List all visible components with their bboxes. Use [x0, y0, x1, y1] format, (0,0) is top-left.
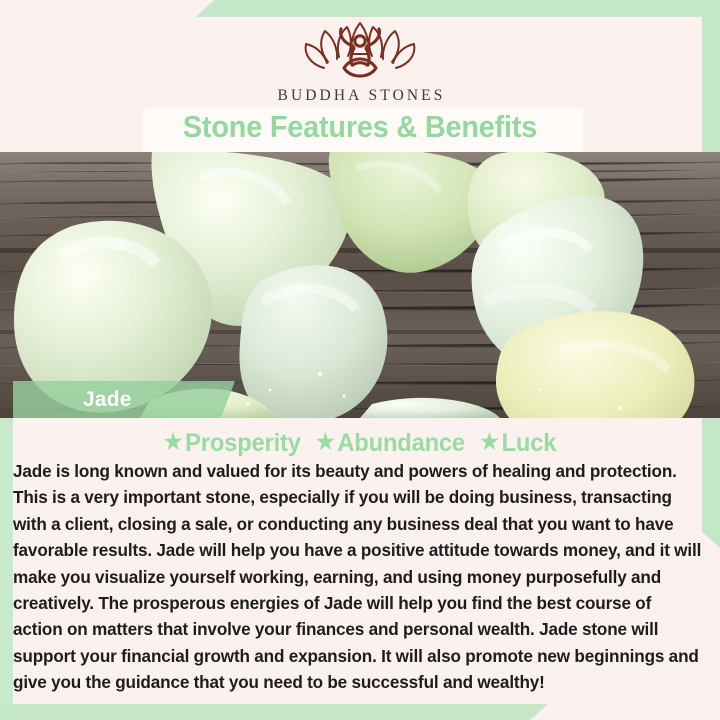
star-icon: ★	[480, 429, 499, 454]
star-icon: ★	[316, 429, 335, 454]
keyword-label: Prosperity	[185, 429, 301, 457]
stone-features-infographic: BUDDHA STONES Stone Features & Benefits	[0, 0, 720, 720]
bottom-accent-band	[0, 704, 548, 720]
keyword-label: Abundance	[337, 429, 465, 457]
lotus-meditating-figure-icon	[294, 18, 426, 84]
keyword-item-abundance: ★Abundance	[316, 429, 465, 457]
page-title: Stone Features & Benefits	[25, 109, 695, 145]
photo-caption-band: Jade	[13, 381, 235, 418]
star-icon: ★	[164, 429, 183, 454]
brand-name: BUDDHA STONES	[0, 87, 720, 105]
top-accent-band	[196, 0, 720, 17]
benefit-keywords: ★Prosperity★Abundance★Luck	[18, 429, 702, 458]
keyword-item-prosperity: ★Prosperity	[164, 429, 301, 457]
stone-photo	[0, 152, 720, 418]
keyword-label: Luck	[502, 429, 557, 457]
brand-logo: BUDDHA STONES	[0, 18, 720, 105]
stone-description-text: Jade is long known and valued for its be…	[13, 458, 703, 696]
stone-name-label: Jade	[83, 388, 132, 412]
jade-stones-image	[0, 152, 720, 418]
keyword-item-luck: ★Luck	[480, 429, 556, 457]
